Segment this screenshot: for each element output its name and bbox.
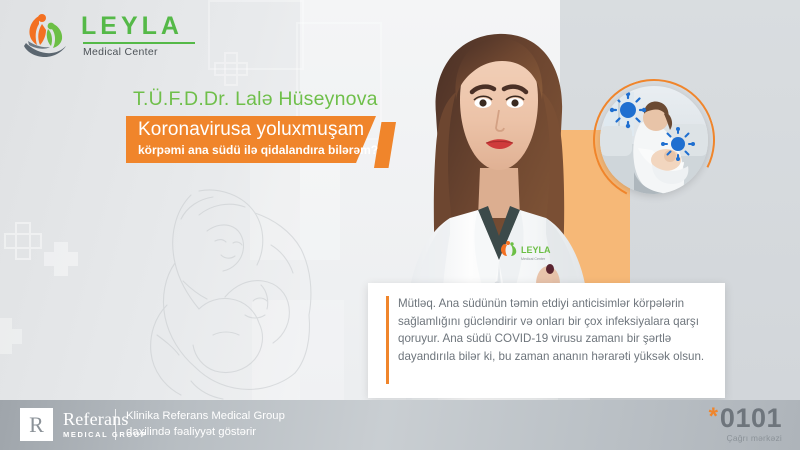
call-center-caption: Çağrı mərkəzi bbox=[709, 433, 782, 443]
logo-text-block: LEYLA Medical Center bbox=[81, 14, 195, 58]
leyla-logo[interactable]: LEYLA Medical Center bbox=[18, 12, 195, 60]
call-center-number: 0101 bbox=[720, 404, 782, 432]
footer-description-line1: Klinika Referans Medical Group bbox=[126, 409, 285, 425]
question-banner-line1: Koronavirusa yoluxmuşam bbox=[138, 119, 364, 141]
answer-text: Mütləq. Ana südünün təmin etdiyi anticis… bbox=[398, 295, 714, 365]
footer-description-line2: daxilində fəaliyyət göstərir bbox=[126, 425, 285, 441]
mother-and-baby-lineart bbox=[95, 185, 325, 400]
footer-description: Klinika Referans Medical Group daxilində… bbox=[126, 409, 285, 440]
answer-accent-bar bbox=[386, 296, 389, 384]
svg-text:Medical Center: Medical Center bbox=[521, 257, 546, 261]
medical-cross-icon bbox=[214, 52, 248, 86]
call-center-block[interactable]: * 0101 Çağrı mərkəzi bbox=[709, 404, 782, 443]
medical-cross-icon bbox=[44, 242, 78, 276]
svg-text:LEYLA: LEYLA bbox=[521, 245, 551, 255]
heart-hand-family-icon bbox=[18, 12, 72, 60]
call-center-number-row: * 0101 bbox=[709, 404, 782, 432]
question-banner-line2: körpəmi ana südü ilə qidalandıra bilərəm… bbox=[138, 143, 378, 157]
medical-cross-icon bbox=[0, 318, 22, 354]
doctor-name: T.Ü.F.D.Dr. Lalə Hüseynova bbox=[133, 88, 378, 111]
logo-brand-name: LEYLA bbox=[81, 14, 195, 39]
referans-monogram: R bbox=[20, 408, 53, 441]
logo-tagline: Medical Center bbox=[83, 47, 195, 58]
footer-divider bbox=[115, 409, 116, 440]
asterisk-icon: * bbox=[709, 404, 718, 430]
logo-divider bbox=[83, 42, 195, 44]
poster-canvas: LEYLA Medical Center T.Ü.F.D.Dr. Lalə Hü… bbox=[0, 0, 800, 450]
medical-cross-icon bbox=[4, 222, 42, 260]
